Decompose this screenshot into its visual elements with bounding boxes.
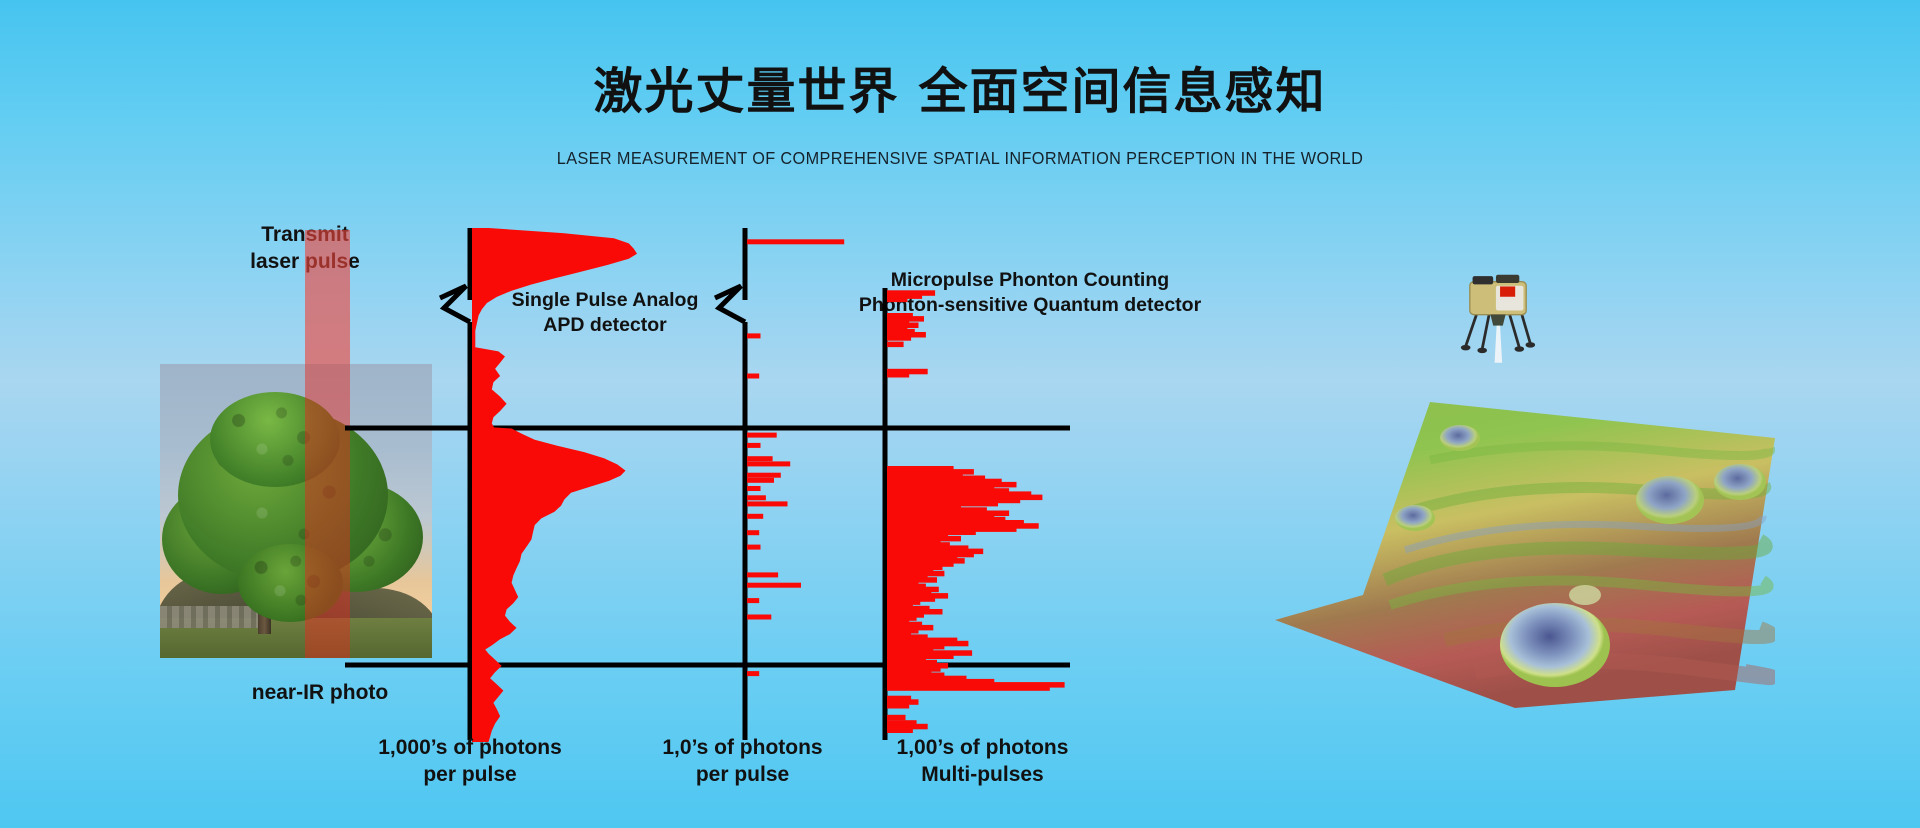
poster-canvas: 激光丈量世界 全面空间信息感知 LASER MEASUREMENT OF COM… [0,0,1920,828]
waveform-2-bar [747,514,763,519]
terrain-crater-small-2 [1714,464,1766,500]
waveform-3-bar [887,715,906,721]
caption1-line2: per pulse [355,762,585,789]
caption1-line1: 1,000’s of photons [355,735,585,762]
waveform-3-bar [887,728,913,734]
waveform-2-bar [747,433,777,438]
lunar-lander [1443,272,1553,382]
waveform-3-bar [887,372,909,378]
chinese-flag-icon [1500,286,1515,296]
lander-thruster-plume [1495,326,1503,363]
waveform-2-bar [747,456,773,461]
caption2-line2: per pulse [635,762,850,789]
terrain-crater-small-3 [1395,505,1435,531]
terrain-crater-small-4 [1440,425,1480,451]
waveform-3-bar [887,342,904,348]
waveform-2-bar [747,671,759,676]
waveform-2-bar [747,598,759,603]
waveform-2-bar [747,486,761,491]
caption-single-pulse: 1,000’s of photons per pulse [355,735,585,789]
lidar-terrain-model [1215,390,1775,710]
waveform-2-bar [747,374,759,379]
lander-top-module [1496,275,1519,283]
waveform-3-bar [887,297,907,303]
axis-break-2 [715,286,745,322]
waveform-2-bar [747,239,844,244]
waveform-3-bar [887,335,911,341]
caption-micropulse: 1,00’s of photons Multi-pulses [870,735,1095,789]
axis-break-1 [440,286,470,322]
terrain-crater-small-5 [1569,585,1601,605]
waveform-2-bar [747,530,759,535]
waveform-2-bar [747,443,761,448]
caption-low-photon: 1,0’s of photons per pulse [635,735,850,789]
waveform-2-bar [747,333,761,338]
caption2-line1: 1,0’s of photons [635,735,850,762]
waveform-2-bar [747,501,788,506]
waveform-3-bar [887,703,909,709]
waveform-2-bar [747,572,778,577]
terrain-crater-small-1 [1636,476,1704,524]
waveform-2-bar [747,495,766,500]
caption3-line1: 1,00’s of photons [870,735,1095,762]
waveform-2-bars [747,239,844,676]
lander-antenna-mount [1473,276,1494,284]
waveform-3-bar [887,685,1050,691]
waveform-2-bar [747,478,774,483]
waveform-2-bar [747,615,771,620]
waveform-2-bar [747,583,801,588]
waveform-2-bar [747,545,761,550]
caption3-line2: Multi-pulses [870,762,1095,789]
lander-engine [1490,315,1505,326]
terrain-crater-large [1500,603,1610,687]
waveform-2-bar [747,461,790,466]
waveform-2-bar [747,473,781,478]
